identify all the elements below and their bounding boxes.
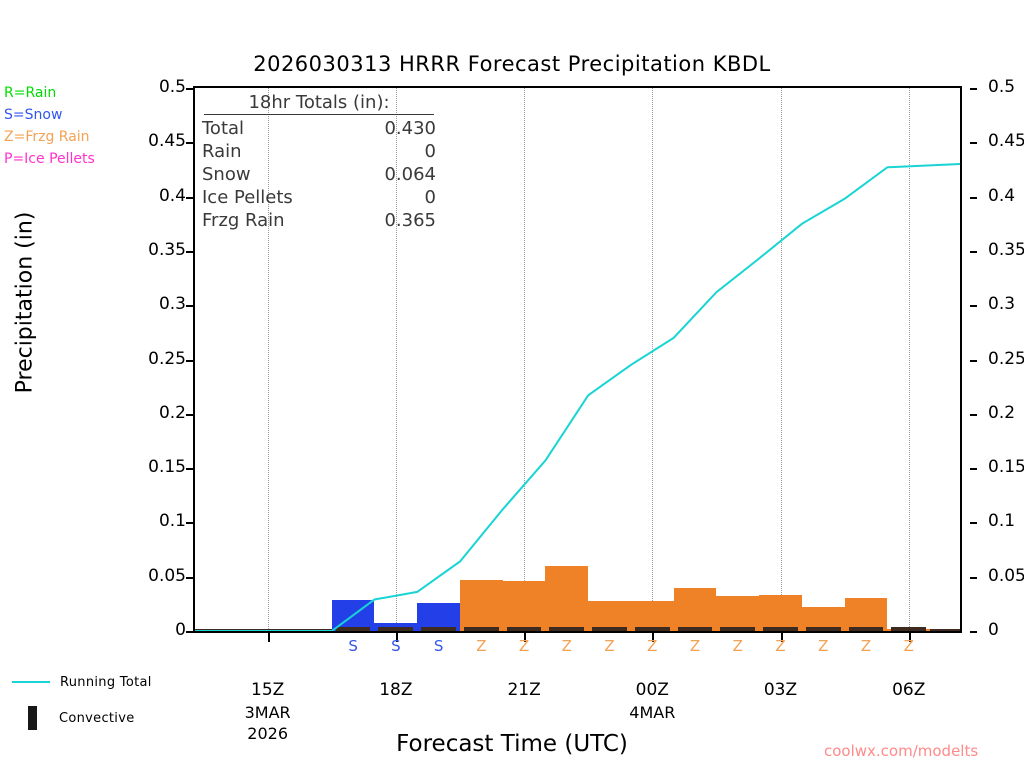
y-tick-label: 0.2 — [988, 403, 1015, 423]
precip-type-marker: S — [391, 637, 401, 655]
y-tick-mark — [186, 197, 193, 199]
y-tick-label: 0.3 — [159, 294, 186, 314]
totals-row-label: Snow — [202, 163, 251, 186]
precip-type-marker: Z — [562, 637, 572, 655]
y-tick-label: 0.5 — [159, 77, 186, 97]
precip-type-marker: Z — [604, 637, 614, 655]
y-tick-label: 0.35 — [988, 240, 1024, 260]
legend-item: Running Total — [12, 664, 152, 700]
y-tick-label: 0.25 — [148, 349, 186, 369]
legend-line-marker — [12, 681, 50, 683]
y-axis-left: 0.50.450.40.350.30.250.20.150.10.050 — [118, 86, 186, 633]
y-tick-label: 0.15 — [988, 457, 1024, 477]
page-title: 2026030313 HRRR Forecast Precipitation K… — [0, 52, 1024, 76]
totals-row: Rain0 — [198, 140, 440, 163]
y-axis-right: 0.50.450.40.350.30.250.20.150.10.050 — [970, 86, 1024, 633]
y-tick-mark — [970, 468, 977, 470]
precip-type-marker: S — [434, 637, 444, 655]
x-tick-label: 18Z — [379, 680, 412, 700]
x-tick-label: 21Z — [507, 680, 540, 700]
precip-type-marker: Z — [818, 637, 828, 655]
chart-legend: Running TotalConvective — [12, 664, 152, 736]
totals-rows: Total0.430Rain0Snow0.064Ice Pellets0Frzg… — [198, 117, 440, 232]
y-tick-mark — [186, 142, 193, 144]
y-tick-label: 0.35 — [148, 240, 186, 260]
legend-item: Convective — [12, 700, 152, 736]
totals-heading: 18hr Totals (in): — [204, 92, 434, 115]
y-tick-label: 0.45 — [148, 131, 186, 151]
y-tick-label: 0.25 — [988, 349, 1024, 369]
precip-type-marker: Z — [861, 637, 871, 655]
x-tick-sublabel: 3MAR — [245, 703, 291, 722]
precip-type-marker: Z — [476, 637, 486, 655]
y-tick-mark — [970, 360, 977, 362]
precip-type-marker: Z — [519, 637, 529, 655]
y-tick-mark — [186, 631, 193, 633]
precip-type-marker: Z — [733, 637, 743, 655]
legend-item-label: Running Total — [60, 675, 152, 690]
precip-type-legend-item: S=Snow — [4, 104, 95, 126]
x-tick-sublabel: 4MAR — [629, 703, 675, 722]
precip-type-marker: Z — [904, 637, 914, 655]
y-tick-mark — [186, 577, 193, 579]
totals-row: Frzg Rain0.365 — [198, 209, 440, 232]
y-axis-title: Precipitation (in) — [13, 133, 38, 473]
totals-row-value: 0 — [425, 140, 436, 163]
totals-row-label: Ice Pellets — [202, 186, 293, 209]
totals-row: Total0.430 — [198, 117, 440, 140]
y-tick-mark — [970, 522, 977, 524]
y-tick-mark — [970, 414, 977, 416]
y-tick-mark — [186, 251, 193, 253]
y-tick-label: 0.05 — [148, 566, 186, 586]
y-tick-mark — [970, 631, 977, 633]
x-tick-mark — [268, 633, 270, 642]
totals-row-value: 0.064 — [384, 163, 436, 186]
precip-type-marker: Z — [690, 637, 700, 655]
watermark: coolwx.com/modelts — [824, 742, 978, 760]
y-tick-mark — [970, 142, 977, 144]
totals-box: 18hr Totals (in): Total0.430Rain0Snow0.0… — [198, 92, 440, 232]
y-tick-label: 0.3 — [988, 294, 1015, 314]
x-tick-label: 15Z — [251, 680, 284, 700]
y-tick-mark — [970, 251, 977, 253]
totals-row: Ice Pellets0 — [198, 186, 440, 209]
y-tick-mark — [186, 468, 193, 470]
y-tick-label: 0.2 — [159, 403, 186, 423]
precip-type-marker: Z — [775, 637, 785, 655]
y-tick-label: 0.5 — [988, 77, 1015, 97]
x-tick-label: 06Z — [892, 680, 925, 700]
totals-row-label: Total — [202, 117, 244, 140]
y-tick-label: 0 — [988, 620, 999, 640]
y-tick-mark — [186, 414, 193, 416]
y-tick-label: 0.1 — [988, 511, 1015, 531]
y-tick-mark — [186, 522, 193, 524]
totals-row-value: 0.365 — [384, 209, 436, 232]
y-tick-label: 0.05 — [988, 566, 1024, 586]
totals-row-value: 0.430 — [384, 117, 436, 140]
totals-row-label: Frzg Rain — [202, 209, 285, 232]
y-tick-label: 0.1 — [159, 511, 186, 531]
y-tick-mark — [186, 305, 193, 307]
y-tick-label: 0.15 — [148, 457, 186, 477]
y-tick-label: 0.45 — [988, 131, 1024, 151]
y-tick-mark — [970, 88, 977, 90]
y-tick-label: 0.4 — [988, 186, 1015, 206]
y-tick-mark — [186, 360, 193, 362]
y-tick-label: 0 — [175, 620, 186, 640]
totals-row: Snow0.064 — [198, 163, 440, 186]
x-tick-label: 00Z — [636, 680, 669, 700]
y-tick-label: 0.4 — [159, 186, 186, 206]
y-tick-mark — [186, 88, 193, 90]
y-tick-mark — [970, 197, 977, 199]
precip-type-legend-item: R=Rain — [4, 82, 95, 104]
y-tick-mark — [970, 577, 977, 579]
totals-row-label: Rain — [202, 140, 242, 163]
precip-type-marker: Z — [647, 637, 657, 655]
precip-type-marker: S — [348, 637, 358, 655]
legend-swatch-marker — [28, 706, 37, 730]
totals-row-value: 0 — [425, 186, 436, 209]
chart-root: 2026030313 HRRR Forecast Precipitation K… — [0, 0, 1024, 768]
legend-item-label: Convective — [59, 711, 135, 726]
y-tick-mark — [970, 305, 977, 307]
x-tick-label: 03Z — [764, 680, 797, 700]
